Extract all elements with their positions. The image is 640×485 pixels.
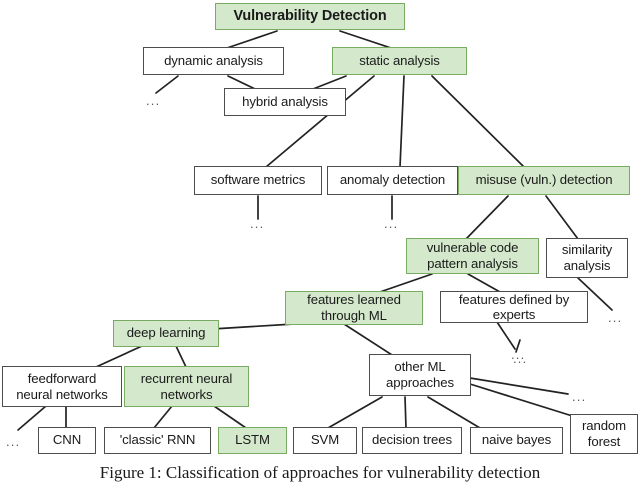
edge-pattern-features-learned: [380, 274, 432, 292]
node-label: decision trees: [372, 433, 452, 448]
node-vulnerability-detection[interactable]: Vulnerability Detection: [215, 3, 405, 30]
node-label-line-2: through ML: [321, 308, 387, 324]
node-decision-trees[interactable]: decision trees: [362, 427, 462, 454]
node-label-line-2: networks: [161, 387, 213, 403]
node-svm[interactable]: SVM: [293, 427, 357, 454]
node-similarity-analysis[interactable]: similarity analysis: [546, 238, 628, 278]
node-dynamic-analysis[interactable]: dynamic analysis: [143, 47, 284, 75]
edge-experts-ellipsis: [497, 322, 515, 349]
node-label-line-2: forest: [588, 434, 620, 450]
node-anomaly-detection[interactable]: anomaly detection: [327, 166, 458, 195]
edge-static-misuse: [432, 76, 524, 167]
node-label: static analysis: [359, 54, 440, 69]
ellipsis-dynamic-analysis: ...: [146, 94, 160, 107]
node-hybrid-analysis[interactable]: hybrid analysis: [224, 88, 346, 116]
node-label-line-2: pattern analysis: [427, 256, 518, 272]
node-label: SVM: [311, 433, 339, 448]
node-label: naive bayes: [482, 433, 551, 448]
edge-otherml-decision-trees: [405, 397, 406, 428]
edge-features-other-ml: [344, 324, 392, 355]
edge-misuse-similarity: [546, 196, 578, 239]
ellipsis-software-metrics: ...: [250, 217, 264, 230]
node-software-metrics[interactable]: software metrics: [194, 166, 322, 195]
node-label: LSTM: [235, 433, 270, 448]
node-recurrent-neural-networks[interactable]: recurrent neural networks: [124, 366, 249, 407]
node-label-line-2: analysis: [564, 258, 611, 274]
edge-pattern-features-experts: [468, 274, 500, 292]
node-misuse-detection[interactable]: misuse (vuln.) detection: [458, 166, 630, 195]
edge-recurrent-lstm: [214, 406, 246, 428]
node-features-defined-by-experts[interactable]: features defined by experts: [440, 291, 588, 323]
node-vulnerable-code-pattern-analysis[interactable]: vulnerable code pattern analysis: [406, 238, 539, 274]
node-features-learned-through-ml[interactable]: features learned through ML: [285, 291, 423, 325]
node-label: dynamic analysis: [164, 54, 263, 69]
figure-caption: Figure 1: Classification of approaches f…: [0, 463, 640, 483]
node-label-line-1: features learned: [307, 292, 401, 308]
ellipsis-anomaly-detection: ...: [384, 217, 398, 230]
ellipsis-similarity-analysis: ...: [608, 311, 622, 324]
edge-static-anomaly: [400, 76, 404, 167]
edge-recurrent-classic-rnn: [154, 406, 172, 428]
node-label-line-2: neural networks: [16, 387, 108, 403]
node-feedforward-neural-networks[interactable]: feedforward neural networks: [2, 366, 122, 407]
node-label: misuse (vuln.) detection: [476, 173, 613, 188]
node-label-line-1: feedforward: [28, 371, 97, 387]
node-static-analysis[interactable]: static analysis: [332, 47, 467, 75]
node-label: 'classic' RNN: [120, 433, 196, 448]
node-label-line-2: experts: [493, 307, 536, 323]
ellipsis-feedforward-neural-networks: ...: [6, 435, 20, 448]
node-label: Vulnerability Detection: [233, 9, 386, 24]
node-label-line-2: approaches: [386, 375, 454, 391]
edge-otherml-ellipsis: [470, 378, 568, 394]
edge-deep-feedforward: [96, 346, 142, 367]
edge-misuse-vulnerable-pattern: [466, 196, 508, 239]
node-label: deep learning: [127, 326, 206, 341]
node-lstm[interactable]: LSTM: [218, 427, 287, 454]
node-deep-learning[interactable]: deep learning: [113, 320, 219, 347]
edge-otherml-svm: [328, 397, 382, 428]
node-other-ml-approaches[interactable]: other ML approaches: [369, 354, 471, 396]
node-cnn[interactable]: CNN: [38, 427, 96, 454]
node-naive-bayes[interactable]: naive bayes: [470, 427, 563, 454]
node-label: CNN: [53, 433, 81, 448]
edge-dynamic-ellipsis: [156, 76, 178, 93]
node-random-forest[interactable]: random forest: [570, 414, 638, 454]
node-label-line-1: random: [582, 418, 626, 434]
edge-otherml-naive-bayes: [428, 397, 480, 428]
edge-layer: [0, 0, 640, 485]
node-label-line-1: features defined by: [459, 292, 569, 308]
node-label-line-1: similarity: [562, 242, 612, 258]
node-label-line-1: vulnerable code: [427, 240, 519, 256]
figure-classification-diagram: Vulnerability Detection dynamic analysis…: [0, 0, 640, 485]
ellipsis-other-ml-approaches: ...: [572, 390, 586, 403]
node-label: software metrics: [211, 173, 305, 188]
ellipsis-other-ml-upper: ...: [513, 352, 527, 365]
edge-deep-recurrent: [176, 346, 186, 367]
node-label: hybrid analysis: [242, 95, 328, 110]
node-classic-rnn[interactable]: 'classic' RNN: [104, 427, 211, 454]
node-label-line-1: recurrent neural: [141, 371, 233, 387]
node-label-line-1: other ML: [394, 359, 445, 375]
node-label: anomaly detection: [340, 173, 445, 188]
